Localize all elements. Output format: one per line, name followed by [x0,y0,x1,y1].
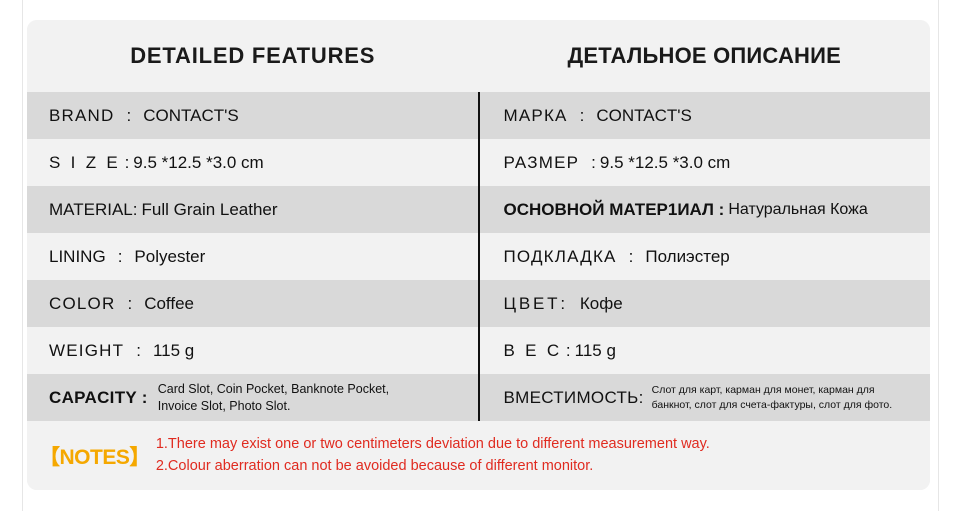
cell-size-en: S I Z E : 9.5 *12.5 *3.0 cm [27,139,479,186]
value-cvet: Кофе [580,294,623,314]
notes-line-2: 2.Colour aberration can not be avoided b… [156,456,710,477]
value-podkladka: Полиэстер [645,247,729,267]
vmestimost-line-2: банкнот, слот для счета-фактуры, слот дл… [652,398,893,412]
cell-weight-ru: В Е С : 115 g [479,327,931,374]
cell-lining-ru: ПОДКЛАДКА : Полиэстер [479,233,931,280]
value-ves: 115 g [575,341,616,361]
value-size: 9.5 *12.5 *3.0 cm [133,153,263,173]
label-marka: МАРКА [504,106,568,126]
capacity-line-1: Card Slot, Coin Pocket, Banknote Pocket, [158,381,389,398]
label-brand: BRAND [49,106,115,126]
vmestimost-line-1: Слот для карт, карман для монет, карман … [652,383,893,397]
separator-brand: : [127,106,132,126]
separator-ves: : [566,341,571,361]
separator-podkladka: : [629,247,634,267]
cell-material-ru: ОСНОВНОЙ МАТЕР1ИАЛ : Натуральная Кожа [479,186,931,233]
label-vmestimost: ВМЕСТИМОСТЬ: [504,388,644,408]
column-divider [478,92,480,421]
capacity-line-2: Invoice Slot, Photo Slot. [158,398,389,415]
label-osnovnoy-material: ОСНОВНОЙ МАТЕР1ИАЛ : [504,200,725,220]
value-vmestimost: Слот для карт, карман для монет, карман … [652,383,893,412]
separator-razmer: : [591,153,596,173]
notes-line-1: 1.There may exist one or two centimeters… [156,434,710,455]
cell-size-ru: РАЗМЕР : 9.5 *12.5 *3.0 cm [479,139,931,186]
cell-capacity-ru: ВМЕСТИМОСТЬ: Слот для карт, карман для м… [479,374,931,421]
notes-section: 【NOTES】 1.There may exist one or two cen… [27,421,930,490]
separator-marka: : [580,106,585,126]
separator-lining: : [118,247,123,267]
label-razmer: РАЗМЕР [504,153,580,173]
left-guide-rail [22,0,23,511]
header-detailed-features: DETAILED FEATURES [27,20,479,92]
value-material: Full Grain Leather [141,200,277,220]
cell-material-en: MATERIAL: Full Grain Leather [27,186,479,233]
label-weight: WEIGHT [49,341,124,361]
cell-lining-en: LINING : Polyester [27,233,479,280]
value-brand: CONTACT'S [143,106,238,126]
value-color: Coffee [144,294,194,314]
value-osnovnoy-material: Натуральная Кожа [728,201,867,219]
cell-color-ru: ЦВЕТ: Кофе [479,280,931,327]
label-podkladka: ПОДКЛАДКА [504,247,617,267]
value-weight: 115 g [153,341,194,361]
label-lining: LINING [49,247,106,267]
value-capacity: Card Slot, Coin Pocket, Banknote Pocket,… [158,381,389,414]
cell-capacity-en: CAPACITY : Card Slot, Coin Pocket, Bankn… [27,374,479,421]
separator-color: : [127,294,132,314]
value-razmer: 9.5 *12.5 *3.0 cm [600,153,730,173]
notes-label: 【NOTES】 [39,441,150,471]
cell-brand-en: BRAND : CONTACT'S [27,92,479,139]
right-guide-rail [938,0,939,511]
label-ves: В Е С [504,341,562,361]
table-rows: BRAND : CONTACT'S МАРКА : CONTACT'S S I … [27,92,930,421]
table-header: DETAILED FEATURES ДЕТАЛЬНОЕ ОПИСАНИЕ [27,20,930,92]
separator-weight: : [136,341,141,361]
cell-brand-ru: МАРКА : CONTACT'S [479,92,931,139]
label-capacity: CAPACITY : [49,388,148,408]
header-detalnoe-opisanie: ДЕТАЛЬНОЕ ОПИСАНИЕ [479,20,931,92]
notes-text: 1.There may exist one or two centimeters… [156,434,710,477]
label-material: MATERIAL: [49,200,137,220]
separator-size: : [125,153,130,173]
specification-table: DETAILED FEATURES ДЕТАЛЬНОЕ ОПИСАНИЕ BRA… [27,20,930,490]
cell-color-en: COLOR : Coffee [27,280,479,327]
value-lining: Polyester [134,247,205,267]
label-cvet: ЦВЕТ: [504,294,568,314]
cell-weight-en: WEIGHT : 115 g [27,327,479,374]
label-size: S I Z E [49,153,121,173]
label-color: COLOR [49,294,115,314]
value-marka: CONTACT'S [596,106,691,126]
